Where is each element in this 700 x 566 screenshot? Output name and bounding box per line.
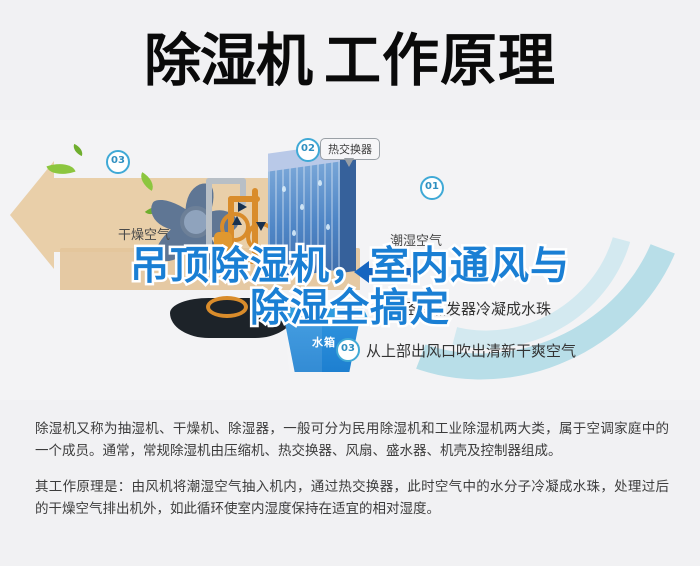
heat-exchanger-bubble: 热交换器 [320, 138, 380, 160]
badge-03-dry-air: 03 [106, 150, 130, 174]
title-banner: 除湿机工作原理 [0, 0, 700, 122]
badge-02-heat-exchanger: 02 [296, 138, 320, 162]
heat-exchanger-side [340, 155, 356, 273]
humid-air-inlet-arrow-icon [368, 268, 416, 277]
base-coil-ring-icon [206, 296, 248, 318]
leaf-icon [71, 144, 85, 156]
body-paragraph-1: 除湿机又称为抽湿机、干燥机、除湿器，一般可分为民用除湿机和工业除湿机两大类，属于… [35, 418, 669, 462]
page-title: 除湿机工作原理 [144, 33, 556, 90]
body-paragraph-2: 其工作原理是：由风机将潮湿空气抽入机内，通过热交换器，此时空气中的水分子冷凝成水… [35, 476, 669, 520]
water-tank-label: 水箱 [312, 334, 336, 350]
illustration-stage: 水箱 03 干燥空气 02 热交换器 01 潮湿空气 气经过蒸发器冷凝成水珠 0… [0, 120, 700, 400]
dehumidifier-infographic-page: 除湿机工作原理 [0, 0, 700, 566]
heat-exchanger-fins [268, 156, 348, 279]
title-sub-text: 工作原理 [324, 28, 556, 94]
dry-air-label: 干燥空气 [118, 224, 170, 243]
humid-air-label: 潮湿空气 [390, 230, 442, 249]
body-copy: 除湿机又称为抽湿机、干燥机、除湿器，一般可分为民用除湿机和工业除湿机两大类，属于… [35, 418, 669, 534]
step-02-text: 气经过蒸发器冷凝成水珠 [386, 298, 551, 319]
bubble-tail-icon [344, 158, 354, 167]
step-03-text: 从上部出风口吹出清新干爽空气 [366, 340, 576, 361]
compressor-coil-icon [206, 178, 276, 274]
step-row-02: 气经过蒸发器冷凝成水珠 [386, 298, 551, 319]
badge-03-outlet: 03 [336, 338, 360, 362]
badge-01-humid-air: 01 [420, 176, 444, 200]
step-row-03: 03 从上部出风口吹出清新干爽空气 [336, 338, 576, 362]
title-main-text: 除湿机 [144, 28, 312, 94]
